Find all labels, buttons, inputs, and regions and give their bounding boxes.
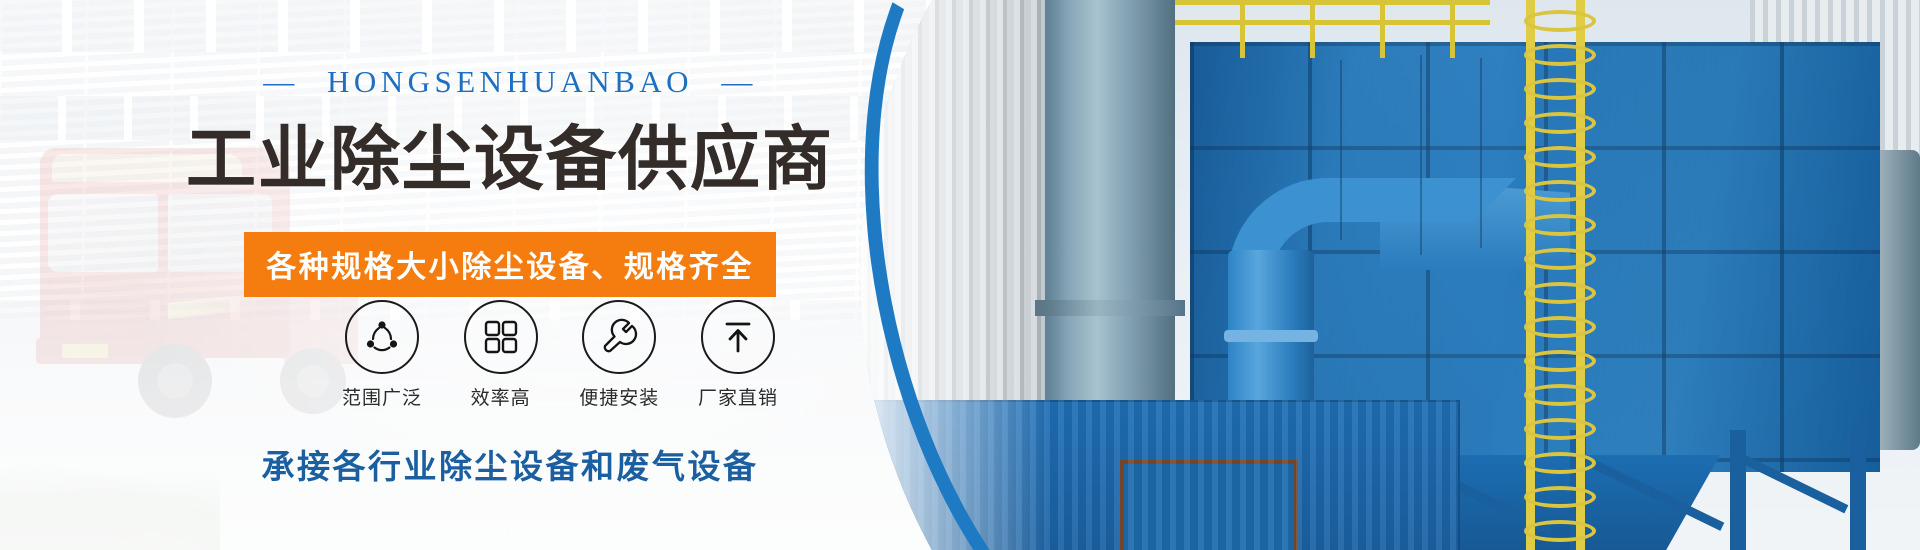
feature-label: 范围广泛 bbox=[330, 383, 434, 410]
banner-content: — HONGSENHUANBAO — 工业除尘设备供应商 各种规格大小除尘设备、… bbox=[0, 0, 1100, 550]
wrench-icon bbox=[582, 300, 656, 374]
banner-tagline: 承接各行业除尘设备和废气设备 bbox=[0, 440, 1020, 488]
hero-banner: — HONGSENHUANBAO — 工业除尘设备供应商 各种规格大小除尘设备、… bbox=[0, 0, 1920, 550]
arrow-up-to-line-icon bbox=[701, 300, 775, 374]
brand-name: HONGSENHUANBAO bbox=[327, 64, 693, 100]
highlight-bar-text: 各种规格大小除尘设备、规格齐全 bbox=[244, 232, 776, 297]
grid-four-squares-icon bbox=[464, 300, 538, 374]
feature-item-install[interactable]: 便捷安装 bbox=[567, 300, 671, 410]
feature-label: 便捷安装 bbox=[567, 383, 671, 410]
feature-label: 效率高 bbox=[449, 383, 553, 410]
dash-left: — bbox=[263, 64, 299, 100]
banner-title: 工业除尘设备供应商 bbox=[0, 103, 1020, 204]
feature-item-range[interactable]: 范围广泛 bbox=[330, 300, 434, 410]
highlight-bar: 各种规格大小除尘设备、规格齐全 bbox=[0, 232, 1020, 297]
network-nodes-icon bbox=[345, 300, 419, 374]
feature-item-efficiency[interactable]: 效率高 bbox=[449, 300, 553, 410]
feature-list: 范围广泛 效率高 bbox=[330, 300, 790, 410]
caged-ladder bbox=[1520, 0, 1592, 550]
feature-item-factory-direct[interactable]: 厂家直销 bbox=[686, 300, 790, 410]
dash-right: — bbox=[721, 64, 757, 100]
brand-eyebrow: — HONGSENHUANBAO — bbox=[0, 64, 1020, 100]
feature-label: 厂家直销 bbox=[686, 383, 790, 410]
